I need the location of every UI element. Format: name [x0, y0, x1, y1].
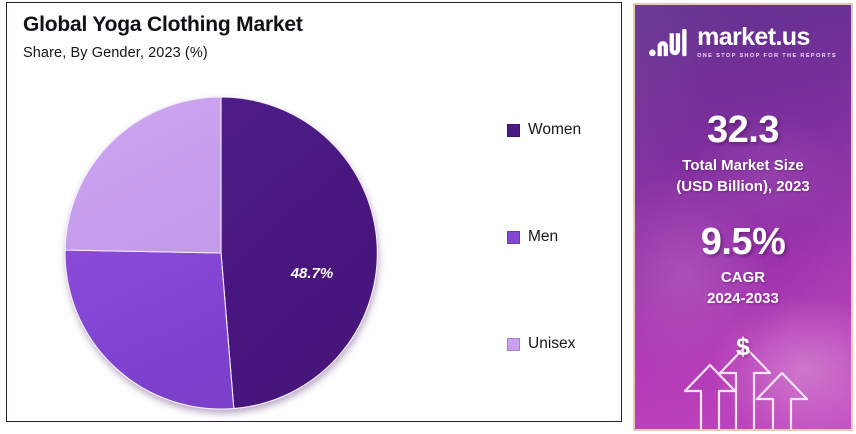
dollar-sign-icon: $: [635, 333, 851, 362]
legend-item-women[interactable]: Women: [507, 121, 617, 139]
pie-slice-women[interactable]: [221, 97, 377, 409]
arrow-up-right-icon: [757, 373, 807, 429]
pie-slices: [65, 97, 377, 409]
stat-value-cagr: 9.5%: [635, 223, 851, 261]
growth-arrows-graphic: $: [635, 317, 851, 429]
legend-swatch-icon: [507, 231, 520, 244]
chart-legend: Women Men Unisex: [507, 121, 617, 353]
stat-label-market-size-line1: Total Market Size: [635, 156, 851, 176]
pie-chart-svg: 48.7%: [59, 85, 389, 425]
page-subtitle: Share, By Gender, 2023 (%): [23, 45, 583, 61]
stat-value-market-size: 32.3: [635, 111, 851, 149]
page-title: Global Yoga Clothing Market: [23, 13, 583, 37]
logo-text-wrap: market.us ONE STOP SHOP FOR THE REPORTS: [697, 25, 837, 59]
brand-logo[interactable]: market.us ONE STOP SHOP FOR THE REPORTS: [635, 25, 851, 59]
logo-tagline: ONE STOP SHOP FOR THE REPORTS: [697, 53, 837, 59]
pie-slice-label-women: 48.7%: [290, 265, 334, 282]
stat-label-cagr-line2: 2024-2033: [635, 289, 851, 309]
logo-wordmark: market.us: [697, 25, 837, 50]
title-block: Global Yoga Clothing Market Share, By Ge…: [23, 13, 583, 61]
legend-swatch-icon: [507, 124, 520, 137]
brand-panel: market.us ONE STOP SHOP FOR THE REPORTS …: [633, 3, 853, 431]
legend-label-men: Men: [528, 228, 558, 246]
stat-total-market-size: 32.3 Total Market Size (USD Billion), 20…: [635, 111, 851, 196]
arrow-up-left-icon: [685, 365, 735, 429]
legend-label-women: Women: [528, 121, 581, 139]
legend-label-unisex: Unisex: [528, 335, 575, 353]
legend-swatch-icon: [507, 338, 520, 351]
stat-label-market-size-line2: (USD Billion), 2023: [635, 177, 851, 197]
stat-cagr: 9.5% CAGR 2024-2033: [635, 223, 851, 308]
pie-chart: 48.7%: [59, 85, 389, 425]
pie-slice-unisex[interactable]: [65, 97, 221, 253]
chart-panel: Global Yoga Clothing Market Share, By Ge…: [6, 2, 622, 422]
stat-label-cagr-line1: CAGR: [635, 268, 851, 288]
market-us-bar-chart-icon: [649, 27, 689, 58]
legend-item-unisex[interactable]: Unisex: [507, 335, 617, 353]
pie-slice-men[interactable]: [65, 250, 234, 409]
infographic-root: Global Yoga Clothing Market Share, By Ge…: [0, 0, 856, 434]
legend-item-men[interactable]: Men: [507, 228, 617, 246]
